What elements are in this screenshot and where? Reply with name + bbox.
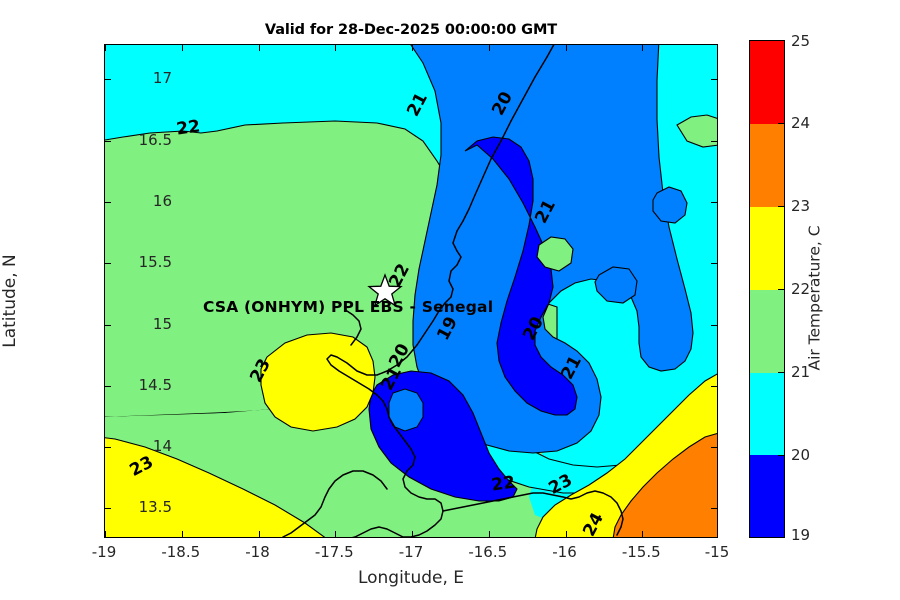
colorbar-tick bbox=[778, 372, 785, 373]
x-tick-label: -16.5 bbox=[468, 543, 507, 561]
figure-root: Valid for 28-Dec-2025 00:00:00 GMT bbox=[0, 0, 900, 600]
colorbar-band-19 bbox=[750, 455, 784, 538]
x-tick bbox=[412, 531, 413, 537]
x-tick-label: -18 bbox=[245, 543, 270, 561]
x-tick bbox=[259, 45, 260, 51]
x-tick bbox=[105, 531, 106, 537]
x-tick bbox=[105, 45, 106, 51]
y-tick bbox=[711, 79, 717, 80]
colorbar-band-20-21 bbox=[750, 373, 784, 456]
y-tick-label: 15 bbox=[153, 315, 172, 333]
y-tick bbox=[711, 141, 717, 142]
y-tick bbox=[711, 202, 717, 203]
x-tick-label: -15 bbox=[705, 543, 730, 561]
y-tick-label: 13.5 bbox=[139, 498, 172, 516]
x-tick bbox=[182, 45, 183, 51]
y-axis-title: Latitude, N bbox=[0, 254, 20, 348]
region-19-20-inner bbox=[389, 389, 423, 431]
y-tick-label: 16.5 bbox=[139, 131, 172, 149]
station-label: CSA (ONHYM) PPL EBS - Senegal bbox=[203, 298, 493, 316]
colorbar-band-21-22 bbox=[750, 290, 784, 373]
contour-label: 22 bbox=[490, 472, 516, 495]
y-tick bbox=[105, 263, 111, 264]
x-tick bbox=[335, 531, 336, 537]
y-tick bbox=[105, 202, 111, 203]
colorbar-tick bbox=[778, 123, 785, 124]
colorbar-tick bbox=[778, 455, 785, 456]
y-tick-label: 14 bbox=[153, 437, 172, 455]
x-tick-label: -18.5 bbox=[161, 543, 200, 561]
y-tick bbox=[105, 79, 111, 80]
contour-map: 22 21 20 21 22 19 20 21 23 20 21 23 22 2… bbox=[105, 45, 718, 538]
y-tick bbox=[711, 263, 717, 264]
y-tick bbox=[105, 447, 111, 448]
colorbar-tick bbox=[778, 289, 785, 290]
colorbar-tick-label: 23 bbox=[791, 197, 810, 215]
colorbar-title: Air Temperature, C bbox=[806, 225, 824, 370]
x-tick bbox=[182, 531, 183, 537]
colorbar-tick-label: 24 bbox=[791, 114, 810, 132]
x-tick bbox=[489, 531, 490, 537]
x-tick bbox=[566, 45, 567, 51]
y-tick-label: 15.5 bbox=[139, 253, 172, 271]
x-tick-label: -15.5 bbox=[622, 543, 661, 561]
x-tick bbox=[642, 531, 643, 537]
colorbar-tick-label: 20 bbox=[791, 446, 810, 464]
y-tick bbox=[105, 325, 111, 326]
x-tick bbox=[412, 45, 413, 51]
y-tick bbox=[711, 325, 717, 326]
x-tick-label: -16 bbox=[552, 543, 577, 561]
chart-title: Valid for 28-Dec-2025 00:00:00 GMT bbox=[104, 22, 718, 38]
colorbar-band-24-25 bbox=[750, 41, 784, 124]
x-tick bbox=[642, 45, 643, 51]
y-tick bbox=[105, 141, 111, 142]
y-tick-label: 17 bbox=[153, 69, 172, 87]
x-tick-label: -17.5 bbox=[315, 543, 354, 561]
colorbar-tick-label: 19 bbox=[791, 526, 810, 544]
x-tick bbox=[489, 45, 490, 51]
y-tick bbox=[105, 386, 111, 387]
y-tick bbox=[711, 447, 717, 448]
colorbar-lower bbox=[749, 455, 785, 538]
colorbar-tick bbox=[778, 206, 785, 207]
y-tick bbox=[105, 508, 111, 509]
x-tick bbox=[335, 45, 336, 51]
map-plot-area[interactable]: 22 21 20 21 22 19 20 21 23 20 21 23 22 2… bbox=[104, 44, 718, 538]
contour-label: 22 bbox=[175, 116, 201, 139]
colorbar-band-22-23 bbox=[750, 207, 784, 290]
colorbar-tick-label: 25 bbox=[791, 32, 810, 50]
x-axis-title: Longitude, E bbox=[104, 568, 718, 588]
y-tick-label: 14.5 bbox=[139, 376, 172, 394]
y-tick bbox=[711, 386, 717, 387]
x-tick bbox=[566, 531, 567, 537]
x-tick bbox=[259, 531, 260, 537]
y-tick bbox=[711, 508, 717, 509]
colorbar-band-23-24 bbox=[750, 124, 784, 207]
region-20-21-islet-a bbox=[653, 187, 687, 223]
x-tick-label: -17 bbox=[399, 543, 424, 561]
x-tick-label: -19 bbox=[92, 543, 117, 561]
y-tick-label: 16 bbox=[153, 192, 172, 210]
